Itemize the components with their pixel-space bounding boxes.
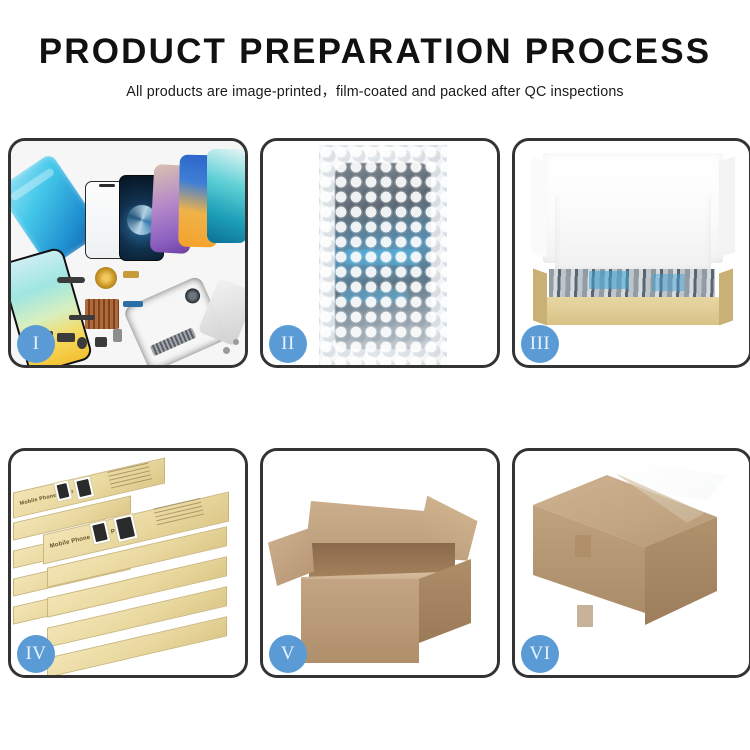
small-part-icon (123, 271, 139, 278)
page-root: PRODUCT PREPARATION PROCESS All products… (0, 0, 750, 750)
box-side-face (43, 543, 229, 563)
wireless-coil-icon (95, 267, 117, 289)
step-panel-3: III (512, 138, 750, 368)
bubble-wrap-texture (319, 145, 447, 365)
wrapped-contents (549, 269, 715, 299)
step-panel-6: VI (512, 448, 750, 678)
small-part-icon (69, 315, 95, 320)
process-step-grid: I II (8, 138, 742, 678)
foam-liner (555, 197, 711, 275)
step-badge-4: IV (17, 635, 55, 673)
chip-grid-icon (85, 299, 119, 329)
step-panel-4: Mobile Phone Spare Parts Mobile Phone Sp… (8, 448, 248, 678)
step-badge-6: VI (521, 635, 559, 673)
step-panel-1: I (8, 138, 248, 368)
step-panel-2: II (260, 138, 500, 368)
small-part-icon (95, 337, 107, 347)
camera-lens-icon (183, 286, 203, 306)
small-part-icon (77, 337, 87, 349)
step-badge-3: III (521, 325, 559, 363)
content-accent (589, 271, 629, 289)
box-side-face (47, 657, 227, 672)
phone-screen-teal-icon (207, 149, 245, 243)
header: PRODUCT PREPARATION PROCESS All products… (0, 0, 750, 101)
screw-icon (223, 347, 230, 354)
carton-front-face (301, 579, 419, 663)
step-badge-2: II (269, 325, 307, 363)
screw-icon (233, 339, 239, 345)
step-badge-1: I (17, 325, 55, 363)
content-accent (652, 274, 685, 291)
small-part-icon (57, 277, 85, 283)
kraft-tray (543, 297, 723, 325)
small-part-icon (113, 329, 122, 342)
flex-cable-icon (150, 327, 196, 356)
stacked-box (47, 637, 227, 657)
page-subtitle: All products are image-printed，film-coat… (0, 80, 750, 101)
step-badge-5: V (269, 635, 307, 673)
page-title: PRODUCT PREPARATION PROCESS (0, 34, 750, 71)
step-panel-5: V (260, 448, 500, 678)
small-part-icon (123, 301, 143, 307)
carton-handle-tab (575, 535, 591, 557)
carton-handle-tab (577, 605, 593, 627)
small-part-icon (57, 333, 75, 342)
